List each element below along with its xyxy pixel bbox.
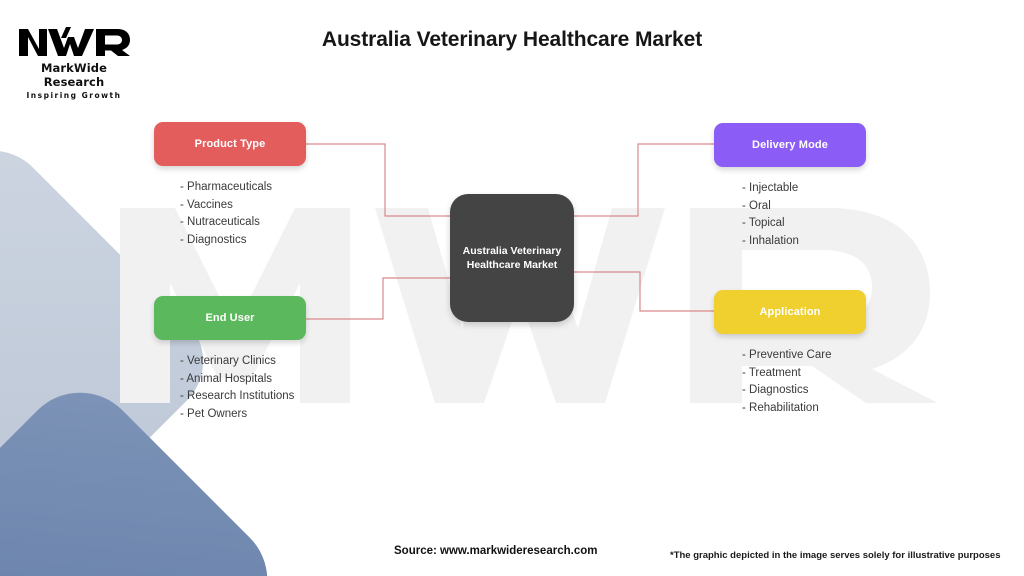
category-application: Application - Preventive Care - Treatmen…	[714, 290, 866, 417]
logo-tagline: Inspiring Growth	[18, 91, 130, 100]
connector-end-user	[306, 278, 460, 319]
category-box-application[interactable]: Application	[714, 290, 866, 334]
center-node-label-line1: Australia Veterinary	[463, 245, 562, 257]
category-list-delivery-mode: - Injectable - Oral - Topical - Inhalati…	[714, 180, 866, 250]
list-item: - Veterinary Clinics	[180, 353, 306, 371]
category-delivery-mode: Delivery Mode - Injectable - Oral - Topi…	[714, 123, 866, 250]
list-item: - Rehabilitation	[742, 400, 866, 418]
page-title: Australia Veterinary Healthcare Market	[0, 28, 1024, 52]
list-item: - Preventive Care	[742, 347, 866, 365]
category-box-delivery-mode[interactable]: Delivery Mode	[714, 123, 866, 167]
category-label-product-type: Product Type	[195, 138, 266, 150]
list-item: - Inhalation	[742, 233, 866, 251]
footer-source[interactable]: Source: www.markwideresearch.com	[394, 545, 597, 557]
category-label-application: Application	[760, 306, 821, 318]
category-product-type: Product Type - Pharmaceuticals - Vaccine…	[154, 122, 306, 249]
logo-company-name: MarkWide Research	[18, 61, 130, 89]
list-item: - Research Institutions	[180, 388, 306, 406]
list-item: - Pet Owners	[180, 406, 306, 424]
footer-disclaimer: *The graphic depicted in the image serve…	[670, 550, 1001, 561]
list-item: - Diagnostics	[180, 232, 306, 250]
list-item: - Oral	[742, 198, 866, 216]
category-list-application: - Preventive Care - Treatment - Diagnost…	[714, 347, 866, 417]
connector-application	[566, 272, 714, 311]
category-box-product-type[interactable]: Product Type	[154, 122, 306, 166]
center-node[interactable]: Australia Veterinary Healthcare Market	[450, 194, 574, 322]
connector-product-type	[306, 144, 460, 216]
list-item: - Vaccines	[180, 197, 306, 215]
list-item: - Diagnostics	[742, 382, 866, 400]
list-item: - Topical	[742, 215, 866, 233]
category-label-delivery-mode: Delivery Mode	[752, 139, 828, 151]
category-end-user: End User - Veterinary Clinics - Animal H…	[154, 296, 306, 423]
list-item: - Nutraceuticals	[180, 214, 306, 232]
center-node-label-line2: Healthcare Market	[467, 259, 557, 271]
list-item: - Animal Hospitals	[180, 371, 306, 389]
list-item: - Injectable	[742, 180, 866, 198]
center-node-label: Australia Veterinary Healthcare Market	[455, 244, 570, 272]
category-label-end-user: End User	[205, 312, 254, 324]
category-list-end-user: - Veterinary Clinics - Animal Hospitals …	[154, 353, 306, 423]
list-item: - Pharmaceuticals	[180, 179, 306, 197]
connector-delivery-mode	[566, 144, 714, 216]
infographic-canvas: MarkWide Research Inspiring Growth Austr…	[0, 0, 1024, 576]
list-item: - Treatment	[742, 365, 866, 383]
category-list-product-type: - Pharmaceuticals - Vaccines - Nutraceut…	[154, 179, 306, 249]
category-box-end-user[interactable]: End User	[154, 296, 306, 340]
